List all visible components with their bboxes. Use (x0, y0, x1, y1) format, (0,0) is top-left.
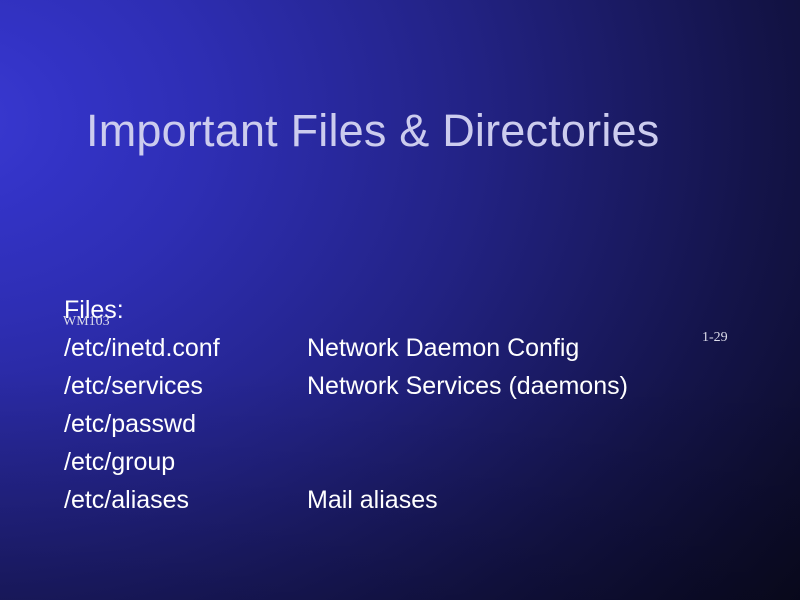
footer-course-code: WM103 (63, 314, 800, 330)
list-item-name: /etc/services (64, 371, 203, 401)
list-item: /etc/services Network Services (daemons) (64, 371, 764, 409)
list-item: /etc/inetd.conf Network Daemon Config (64, 333, 764, 371)
list-item: /etc/aliases Mail aliases (64, 485, 764, 523)
list-item-name: /etc/aliases (64, 485, 189, 515)
list-item-name: /etc/inetd.conf (64, 333, 220, 363)
page-title: Important Files & Directories (86, 104, 746, 158)
list-item: /etc/group (64, 447, 764, 485)
list-item-description: Network Daemon Config (307, 333, 579, 363)
list-item-name: /etc/passwd (64, 409, 196, 439)
list-item-description: Network Services (daemons) (307, 371, 628, 401)
footer-page-number: 1-29 (702, 330, 800, 346)
list-item-name: /etc/group (64, 447, 175, 477)
list-item: /etc/passwd (64, 409, 764, 447)
list-item-description: Mail aliases (307, 485, 438, 515)
presentation-slide: Important Files & Directories Files: /et… (0, 0, 800, 600)
